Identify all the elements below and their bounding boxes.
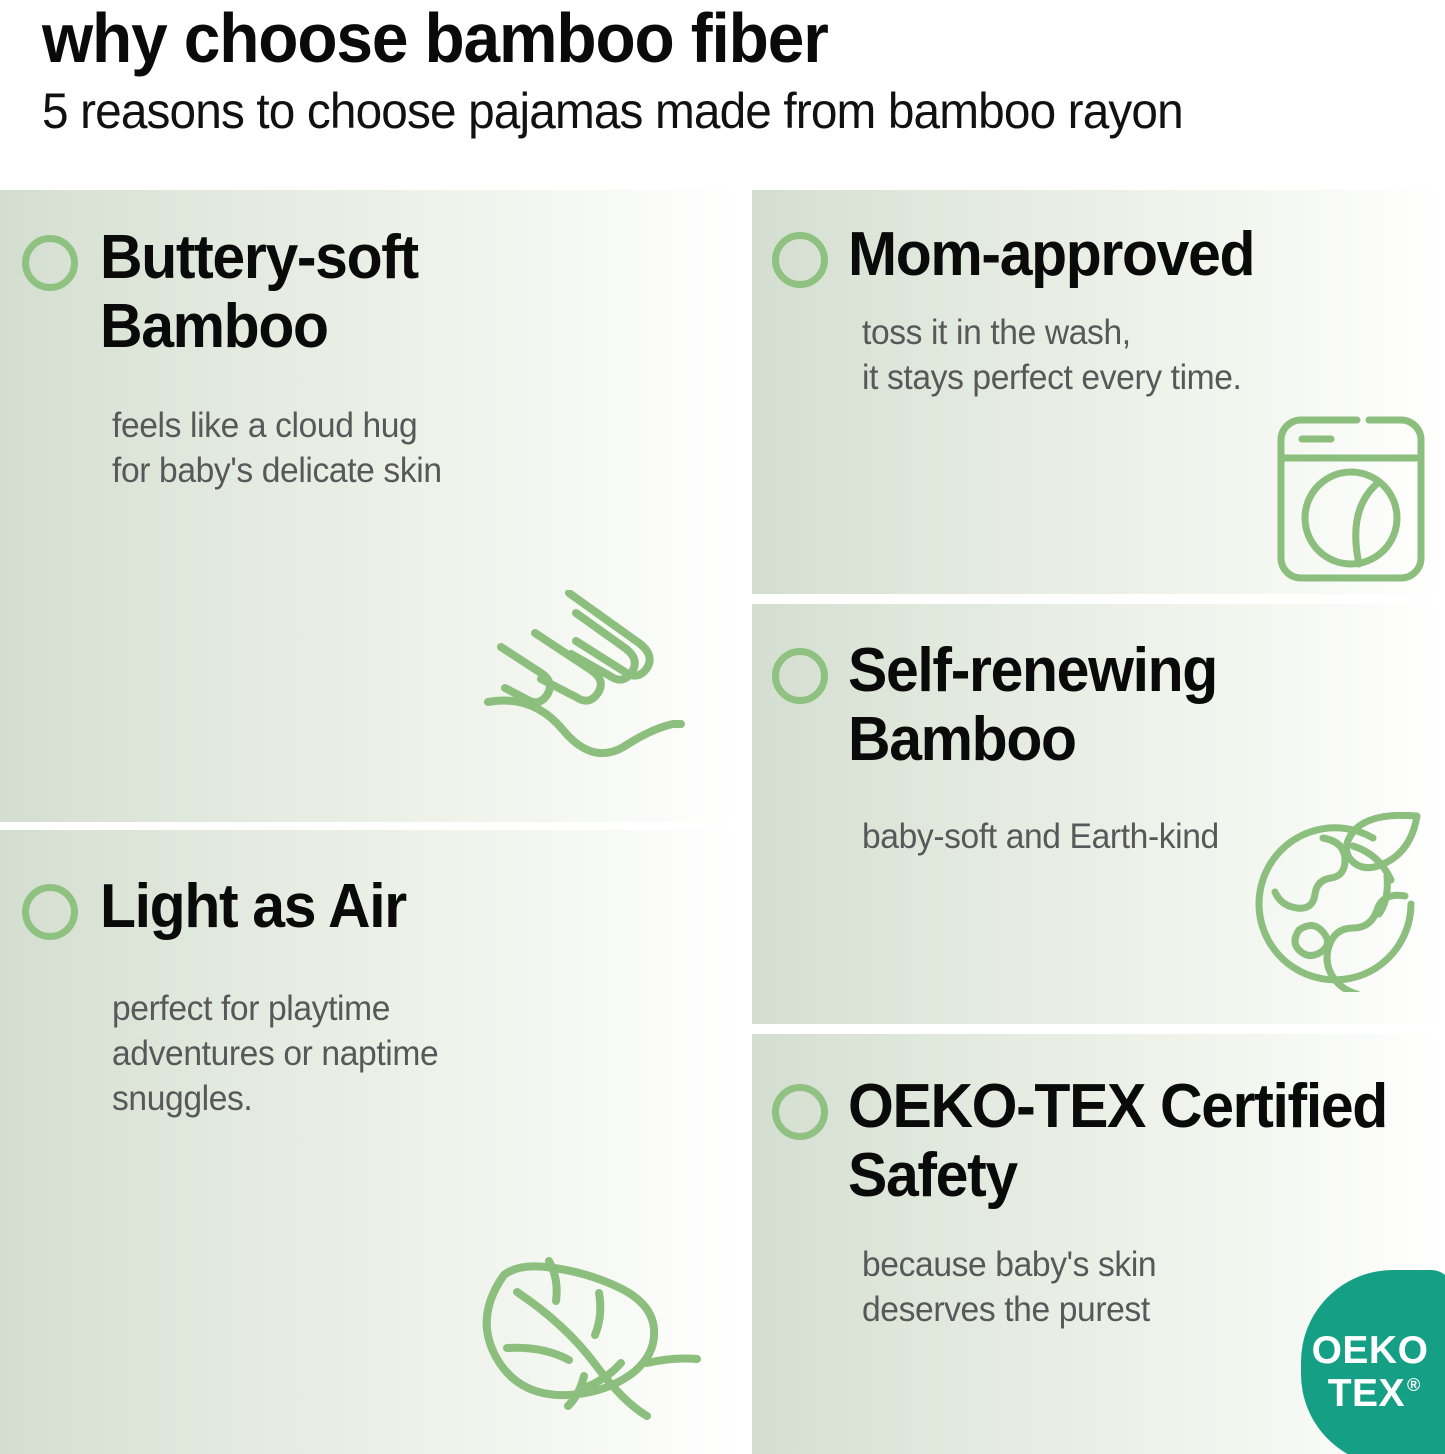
card-light-as-air: Light as Air perfect for playtime advent…: [0, 830, 741, 1454]
card-body-text: perfect for playtime adventures or napti…: [112, 987, 716, 1121]
card-body-text: toss it in the wash, it stays perfect ev…: [862, 311, 1422, 401]
circle-bullet-icon: [772, 648, 828, 704]
card-header: Mom-approved: [752, 190, 1445, 289]
registered-trademark-icon: ®: [1407, 1376, 1420, 1394]
card-mom-approved: Mom-approved toss it in the wash, it sta…: [752, 190, 1445, 594]
feather-icon: [471, 1245, 733, 1454]
page-subtitle: 5 reasons to choose pajamas made from ba…: [42, 84, 1382, 139]
page-title: why choose bamboo fiber: [42, 2, 1361, 74]
card-title: Buttery-soft Bamboo: [100, 223, 632, 362]
card-oeko-tex-certified-safety: OEKO-TEX Certified Safety because baby's…: [752, 1034, 1445, 1454]
card-body-text: baby-soft and Earth-kind: [862, 815, 1422, 860]
oeko-badge-line2: TEX: [1328, 1374, 1405, 1413]
card-title: OEKO-TEX Certified Safety: [848, 1072, 1399, 1211]
circle-bullet-icon: [22, 235, 78, 291]
circle-bullet-icon: [22, 884, 78, 940]
washing-machine-icon: [1275, 414, 1427, 584]
hand-icon: [483, 590, 733, 780]
card-title: Mom-approved: [848, 220, 1254, 289]
card-header: Light as Air: [0, 830, 741, 941]
card-buttery-soft-bamboo: Buttery-soft Bamboo feels like a cloud h…: [0, 190, 741, 822]
oeko-badge-line1: OEKO: [1312, 1331, 1429, 1370]
circle-bullet-icon: [772, 1084, 828, 1140]
card-title: Light as Air: [100, 872, 406, 941]
card-header: Buttery-soft Bamboo: [0, 190, 741, 362]
page-header: why choose bamboo fiber 5 reasons to cho…: [0, 0, 1445, 190]
card-header: Self-renewing Bamboo: [752, 604, 1445, 775]
card-self-renewing-bamboo: Self-renewing Bamboo baby-soft and Earth…: [752, 604, 1445, 1024]
benefits-grid: Buttery-soft Bamboo feels like a cloud h…: [0, 190, 1445, 1454]
oeko-badge-line2-wrap: TEX ®: [1328, 1374, 1421, 1413]
card-body-text: feels like a cloud hug for baby's delica…: [112, 404, 716, 494]
circle-bullet-icon: [772, 232, 828, 288]
card-header: OEKO-TEX Certified Safety: [752, 1034, 1445, 1211]
card-title: Self-renewing Bamboo: [848, 636, 1380, 775]
